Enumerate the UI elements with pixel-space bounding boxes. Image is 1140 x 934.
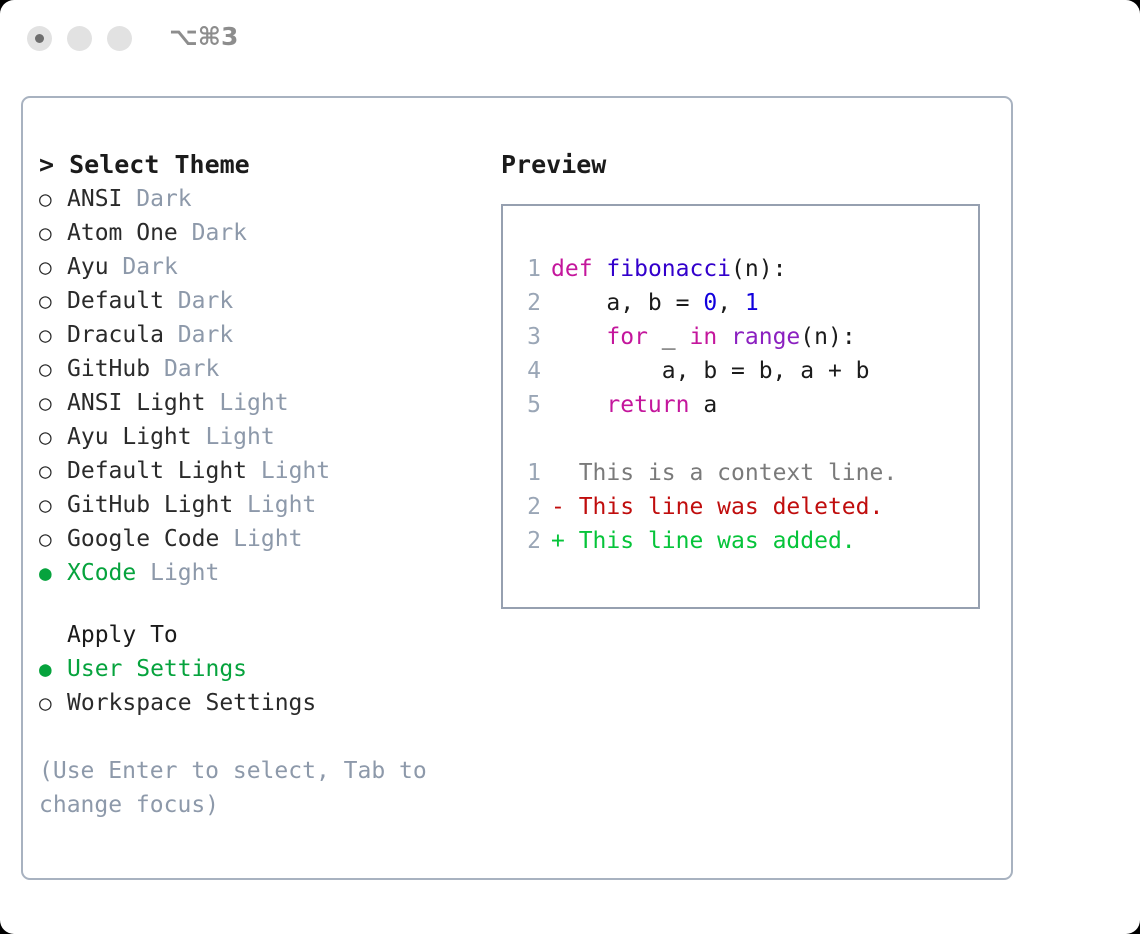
spacer	[39, 590, 499, 618]
theme-variant-tag: Dark	[178, 288, 233, 314]
code-line: 4 a, b = b, a + b	[515, 354, 975, 388]
code-token	[717, 324, 731, 350]
radio-unselected-icon: ○	[39, 420, 67, 454]
spacer	[164, 288, 178, 314]
theme-variant-tag: Dark	[164, 356, 219, 382]
spacer	[205, 390, 219, 416]
theme-option-row[interactable]: ○Ayu Light Light	[39, 420, 499, 454]
line-number: 2	[515, 524, 541, 558]
spacer	[122, 186, 136, 212]
line-number: 5	[515, 388, 541, 422]
window-button-3[interactable]	[107, 26, 132, 51]
spacer	[136, 560, 150, 586]
diff-text: This line was added.	[565, 528, 856, 554]
radio-selected-icon: ●	[39, 652, 67, 686]
code-token: _	[648, 324, 690, 350]
code-line: 5 return a	[515, 388, 975, 422]
line-number: 4	[515, 354, 541, 388]
code-token	[551, 392, 606, 418]
code-token	[593, 256, 607, 282]
theme-option-row[interactable]: ○Google Code Light	[39, 522, 499, 556]
theme-variant-tag: Dark	[178, 322, 233, 348]
preview-heading: Preview	[501, 148, 1001, 182]
theme-option-label: Ayu	[67, 254, 109, 280]
diff-text: This is a context line.	[565, 460, 897, 486]
code-token: return	[606, 392, 689, 418]
theme-option-label: ANSI	[67, 186, 122, 212]
theme-option-label: XCode	[67, 560, 136, 586]
application-window: ⌥⌘3 > Select Theme ○ANSI Dark○Atom One D…	[0, 0, 1140, 934]
theme-variant-tag: Light	[205, 424, 274, 450]
apply-to-option-label: Workspace Settings	[67, 690, 316, 716]
radio-unselected-icon: ○	[39, 182, 67, 216]
theme-option-row[interactable]: ○Ayu Dark	[39, 250, 499, 284]
code-token: for	[606, 324, 648, 350]
code-token: 0	[703, 290, 717, 316]
theme-variant-tag: Dark	[192, 220, 247, 246]
radio-selected-icon: ●	[39, 556, 67, 590]
radio-unselected-icon: ○	[39, 284, 67, 318]
diff-sign: -	[551, 494, 565, 520]
diff-line: 2+ This line was added.	[515, 524, 975, 558]
theme-list: ○ANSI Dark○Atom One Dark○Ayu Dark○Defaul…	[39, 182, 499, 590]
theme-option-label: Google Code	[67, 526, 219, 552]
theme-option-label: Ayu Light	[67, 424, 192, 450]
spacer	[109, 254, 123, 280]
preview-box: 1def fibonacci(n):2 a, b = 0, 13 for _ i…	[501, 204, 980, 609]
code-token: def	[551, 256, 593, 282]
theme-variant-tag: Light	[233, 526, 302, 552]
radio-unselected-icon: ○	[39, 686, 67, 720]
code-token: a	[689, 392, 717, 418]
radio-unselected-icon: ○	[39, 216, 67, 250]
theme-variant-tag: Light	[247, 492, 316, 518]
apply-to-list: ●User Settings○Workspace Settings	[39, 652, 499, 720]
radio-unselected-icon: ○	[39, 386, 67, 420]
apply-to-option-row[interactable]: ○Workspace Settings	[39, 686, 499, 720]
title-bar: ⌥⌘3	[0, 0, 1140, 78]
theme-option-row[interactable]: ○ANSI Light Light	[39, 386, 499, 420]
spacer	[233, 492, 247, 518]
theme-selector-panel: > Select Theme ○ANSI Dark○Atom One Dark○…	[21, 96, 1013, 880]
theme-option-row[interactable]: ○Default Dark	[39, 284, 499, 318]
code-line: 2 a, b = 0, 1	[515, 286, 975, 320]
theme-option-label: Default	[67, 288, 164, 314]
theme-option-row[interactable]: ●XCode Light	[39, 556, 499, 590]
radio-unselected-icon: ○	[39, 454, 67, 488]
diff-line: 1 This is a context line.	[515, 456, 975, 490]
code-preview-area: 1def fibonacci(n):2 a, b = 0, 13 for _ i…	[515, 252, 975, 558]
code-token	[551, 324, 606, 350]
theme-list-column: > Select Theme ○ANSI Dark○Atom One Dark○…	[39, 148, 499, 822]
theme-variant-tag: Light	[261, 458, 330, 484]
line-number: 3	[515, 320, 541, 354]
radio-unselected-icon: ○	[39, 250, 67, 284]
line-number: 1	[515, 252, 541, 286]
spacer	[247, 458, 261, 484]
theme-option-row[interactable]: ○GitHub Dark	[39, 352, 499, 386]
code-line: 1def fibonacci(n):	[515, 252, 975, 286]
window-button-1[interactable]	[27, 26, 52, 51]
radio-unselected-icon: ○	[39, 522, 67, 556]
code-token: fibonacci	[606, 256, 731, 282]
preview-column: Preview	[501, 148, 1001, 182]
select-theme-heading: > Select Theme	[39, 148, 499, 182]
theme-variant-tag: Light	[150, 560, 219, 586]
diff-text: This line was deleted.	[565, 494, 884, 520]
theme-option-label: ANSI Light	[67, 390, 205, 416]
code-line: 3 for _ in range(n):	[515, 320, 975, 354]
window-button-active-dot-icon	[35, 34, 44, 43]
theme-option-row[interactable]: ○GitHub Light Light	[39, 488, 499, 522]
spacer	[164, 322, 178, 348]
code-token: range	[731, 324, 800, 350]
theme-option-label: GitHub Light	[67, 492, 233, 518]
radio-unselected-icon: ○	[39, 318, 67, 352]
spacer	[178, 220, 192, 246]
apply-to-option-label: User Settings	[67, 656, 247, 682]
spacer	[192, 424, 206, 450]
spacer	[219, 526, 233, 552]
window-button-2[interactable]	[67, 26, 92, 51]
keyboard-shortcut-label: ⌥⌘3	[169, 22, 238, 51]
theme-variant-tag: Light	[219, 390, 288, 416]
code-blank-line	[515, 422, 975, 456]
theme-option-row[interactable]: ○Default Light Light	[39, 454, 499, 488]
diff-sign: +	[551, 528, 565, 554]
code-token: 1	[745, 290, 759, 316]
theme-option-row[interactable]: ○ANSI Dark	[39, 182, 499, 216]
theme-option-row[interactable]: ○Atom One Dark	[39, 216, 499, 250]
theme-variant-tag: Dark	[136, 186, 191, 212]
theme-option-label: Default Light	[67, 458, 247, 484]
theme-option-label: Dracula	[67, 322, 164, 348]
theme-variant-tag: Dark	[122, 254, 177, 280]
theme-option-label: Atom One	[67, 220, 178, 246]
radio-unselected-icon: ○	[39, 488, 67, 522]
spacer	[39, 720, 499, 754]
theme-option-label: GitHub	[67, 356, 150, 382]
radio-unselected-icon: ○	[39, 352, 67, 386]
code-token: a, b =	[551, 290, 703, 316]
code-token: (n):	[731, 256, 786, 282]
code-token: (n):	[800, 324, 855, 350]
apply-to-option-row[interactable]: ●User Settings	[39, 652, 499, 686]
code-token: in	[689, 324, 717, 350]
theme-option-row[interactable]: ○Dracula Dark	[39, 318, 499, 352]
diff-line: 2- This line was deleted.	[515, 490, 975, 524]
spacer	[150, 356, 164, 382]
line-number: 1	[515, 456, 541, 490]
keyboard-hint-text: (Use Enter to select, Tab to change focu…	[39, 754, 449, 822]
code-token: ,	[717, 290, 745, 316]
diff-sign	[551, 460, 565, 486]
apply-to-heading: Apply To	[39, 618, 499, 652]
code-token: a, b = b, a + b	[551, 358, 870, 384]
line-number: 2	[515, 490, 541, 524]
line-number: 2	[515, 286, 541, 320]
